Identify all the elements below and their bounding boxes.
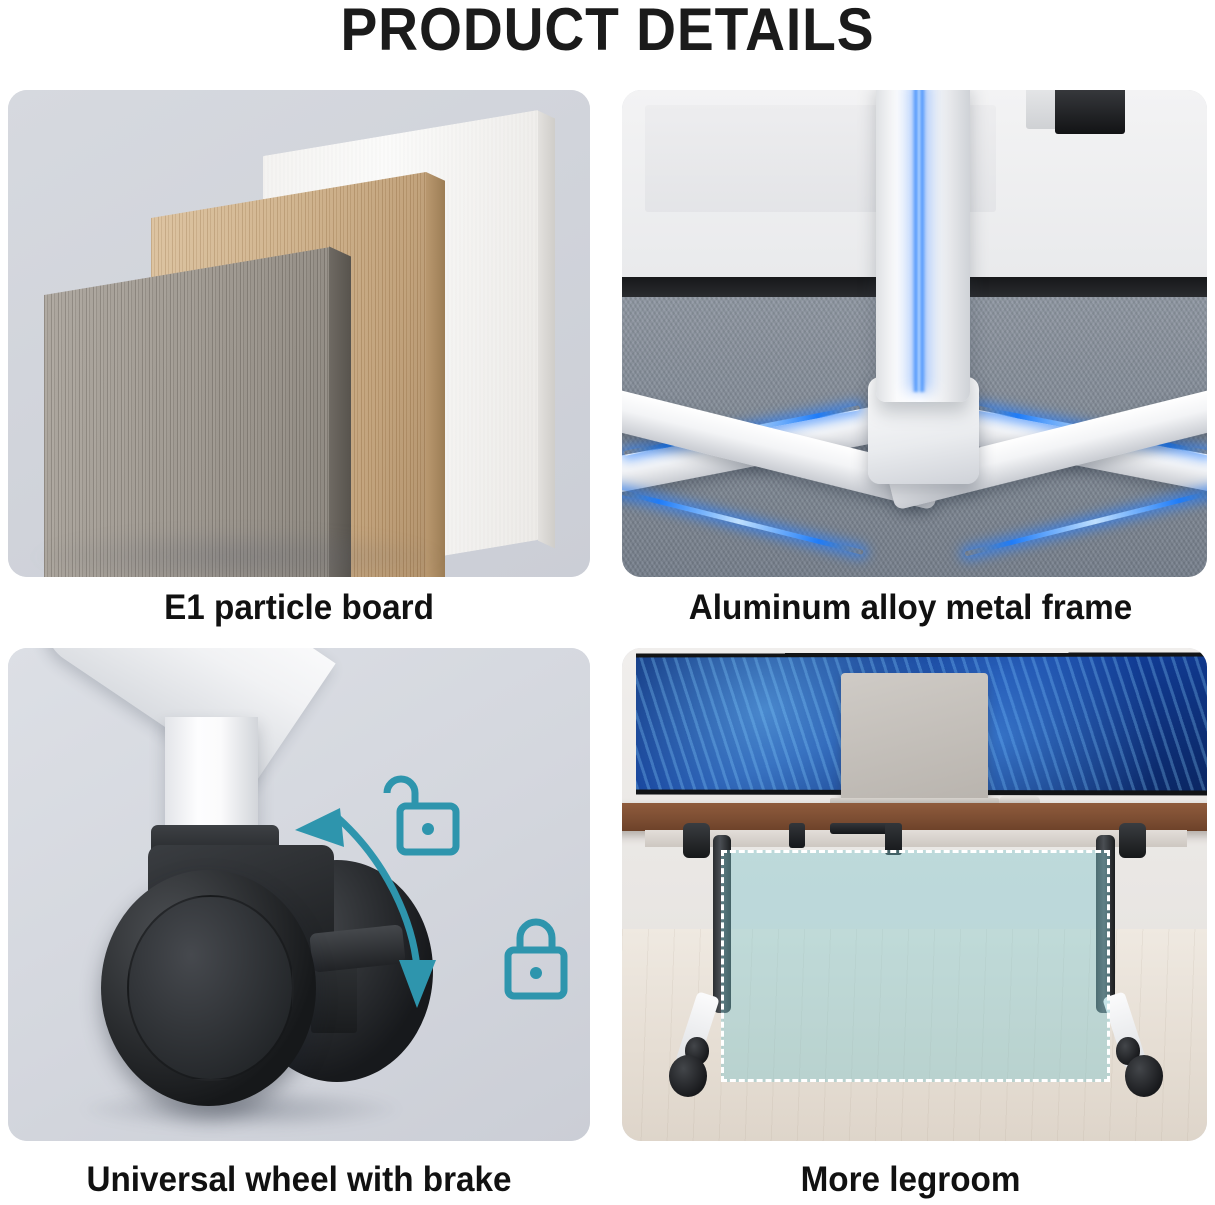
panel-more-legroom [622,648,1207,1141]
caption-metal-frame: Aluminum alloy metal frame [629,588,1192,628]
unlock-shackle [387,779,415,803]
desk-bracket-left [789,823,805,848]
universal-wheel-image [8,648,590,1141]
metal-frame-image [622,90,1207,577]
desk-folding-knob-right[interactable] [1119,823,1145,858]
arrow-head-unlock [295,808,344,847]
frame-clamp-dark [1055,90,1125,134]
brake-indicator-graphics [8,648,590,1141]
panel-particle-board [8,90,590,577]
legroom-highlight-zone [721,850,1110,1082]
desk-folding-knob-left[interactable] [683,823,709,858]
lock-shackle [520,922,552,950]
caption-particle-board: E1 particle board [15,588,583,628]
arrow-head-lock [399,960,436,1008]
panel-metal-frame [622,90,1207,577]
boards-shadow [28,527,448,577]
lock-icon-glyph [508,922,564,996]
desk-caster-right-front [1125,1055,1163,1097]
oak-board-edge [426,172,445,577]
curved-arrow-path [338,818,417,968]
desk-caster-left-front [669,1055,707,1097]
panel-universal-wheel [8,648,590,1141]
page-title: PRODUCT DETAILS [49,0,1167,61]
particle-board-image [8,90,590,577]
laptop-screen [841,673,987,806]
product-details-page: PRODUCT DETAILS E1 particle board [0,0,1215,1205]
frame-column-glow-core [912,90,925,392]
lock-keyhole [530,967,542,979]
more-legroom-image [622,648,1207,1141]
caption-more-legroom: More legroom [629,1160,1192,1200]
caption-universal-wheel: Universal wheel with brake [15,1160,583,1200]
white-board-edge [538,111,555,549]
unlock-keyhole [422,823,434,835]
unlock-icon-glyph [387,779,456,852]
